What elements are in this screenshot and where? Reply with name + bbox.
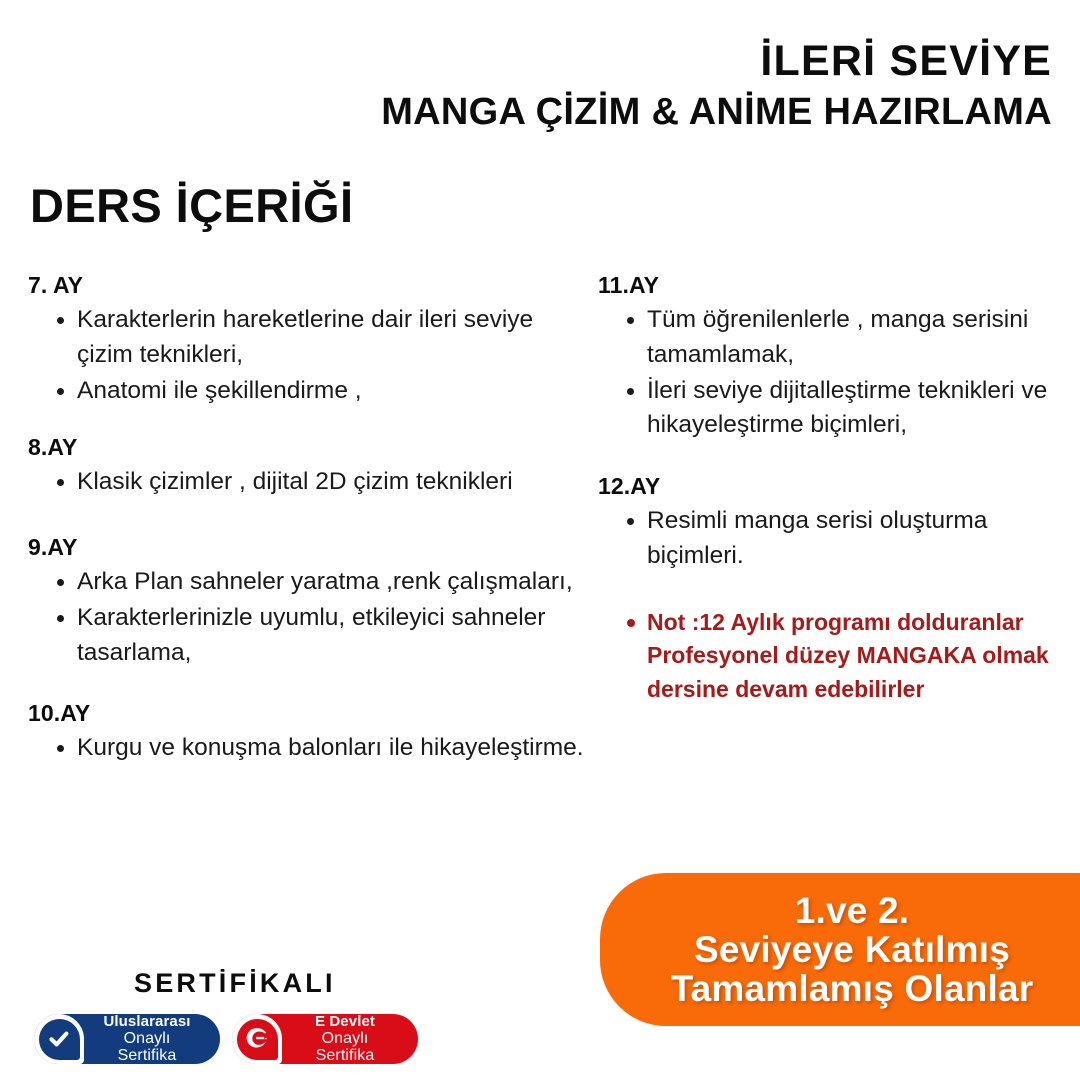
month-block-12: 12.AY Resimli manga serisi oluşturma biç… [598, 473, 1058, 574]
month-block-8: 8.AY Klasik çizimler , dijital 2D çizim … [28, 434, 593, 500]
month-heading: 7. AY [28, 272, 593, 299]
month-heading: 12.AY [598, 473, 1058, 500]
badge-line2: Onaylı Sertifika [290, 1030, 400, 1064]
month-bullet-list: Resimli manga serisi oluşturma biçimleri… [598, 504, 1058, 574]
month-block-10: 10.AY Kurgu ve konuşma balonları ile hik… [28, 700, 593, 766]
header-title-line2: MANGA ÇİZİM & ANİME HAZIRLAMA [28, 91, 1052, 135]
month-block-11: 11.AY Tüm öğrenilenlerle , manga serisin… [598, 272, 1058, 443]
list-item: Resimli manga serisi oluşturma biçimleri… [598, 504, 1058, 574]
month-block-9: 9.AY Arka Plan sahneler yaratma ,renk ça… [28, 534, 593, 670]
badge-text: E Devlet Onaylı Sertifika [290, 1014, 400, 1064]
note-text: Not :12 Aylık programı dolduranlar Profe… [598, 606, 1058, 707]
list-item: İleri seviye dijitalleştirme teknikleri … [598, 374, 1058, 444]
certificate-section-title: SERTİFİKALI [134, 968, 336, 999]
month-heading: 10.AY [28, 700, 593, 727]
month-block-7: 7. AY Karakterlerin hareketlerine dair i… [28, 272, 593, 408]
edevlet-logo-icon [237, 1019, 278, 1060]
month-heading: 8.AY [28, 434, 593, 461]
list-item: Kurgu ve konuşma balonları ile hikayeleş… [28, 731, 593, 766]
badge-edevlet-certificate: E Devlet Onaylı Sertifika [232, 1014, 418, 1064]
eligibility-banner: 1.ve 2. Seviyeye Katılmış Tamamlamış Ola… [600, 873, 1080, 1026]
month-bullet-list: Kurgu ve konuşma balonları ile hikayeleş… [28, 731, 593, 766]
page-title: DERS İÇERİĞİ [30, 178, 353, 233]
badge-emblem [232, 1014, 282, 1064]
month-bullet-list: Tüm öğrenilenlerle , manga serisini tama… [598, 303, 1058, 443]
list-item: Karakterlerin hareketlerine dair ileri s… [28, 303, 593, 373]
badge-line2: Onaylı Sertifika [92, 1030, 202, 1064]
list-item: Arka Plan sahneler yaratma ,renk çalışma… [28, 565, 593, 600]
poster-header: İLERİ SEVİYE MANGA ÇİZİM & ANİME HAZIRLA… [28, 38, 1052, 135]
badge-line1: Uluslararası [92, 1014, 202, 1030]
badge-line1: E Devlet [290, 1014, 400, 1030]
badge-emblem [34, 1014, 84, 1064]
month-bullet-list: Arka Plan sahneler yaratma ,renk çalışma… [28, 565, 593, 670]
month-bullet-list: Karakterlerin hareketlerine dair ileri s… [28, 303, 593, 408]
list-item: Karakterlerinizle uyumlu, etkileyici sah… [28, 601, 593, 671]
list-item: Tüm öğrenilenlerle , manga serisini tama… [598, 303, 1058, 373]
month-heading: 11.AY [598, 272, 1058, 299]
poster-page: İLERİ SEVİYE MANGA ÇİZİM & ANİME HAZIRLA… [0, 0, 1080, 1080]
month-heading: 9.AY [28, 534, 593, 561]
badge-international-certificate: Uluslararası Onaylı Sertifika [34, 1014, 220, 1064]
certificate-badges: Uluslararası Onaylı Sertifika E Devlet O… [34, 1014, 418, 1064]
list-item: Anatomi ile şekillendirme , [28, 374, 593, 409]
month-bullet-list: Klasik çizimler , dijital 2D çizim tekni… [28, 465, 593, 500]
check-mark-icon [39, 1019, 80, 1060]
eligibility-banner-text: 1.ve 2. Seviyeye Katılmış Tamamlamış Ola… [671, 891, 1034, 1009]
badge-text: Uluslararası Onaylı Sertifika [92, 1014, 202, 1064]
list-item: Klasik çizimler , dijital 2D çizim tekni… [28, 465, 593, 500]
right-column: 11.AY Tüm öğrenilenlerle , manga serisin… [598, 272, 1058, 706]
header-title-line1: İLERİ SEVİYE [28, 38, 1052, 84]
left-column: 7. AY Karakterlerin hareketlerine dair i… [28, 272, 593, 767]
